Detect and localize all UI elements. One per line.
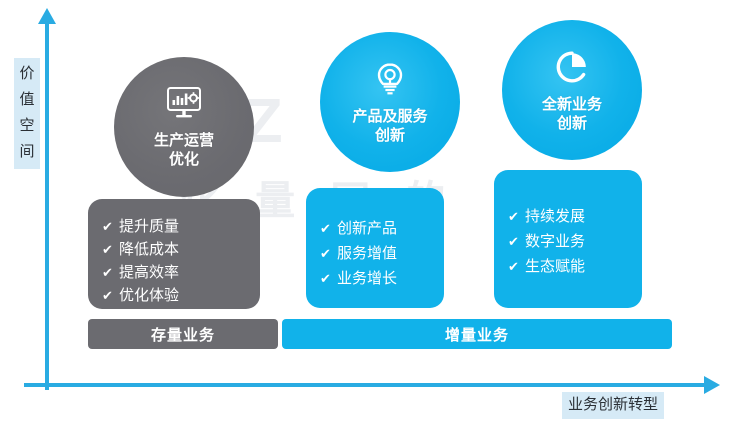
check-icon: ✔ <box>102 261 116 284</box>
list-item: ✔ 提高效率 <box>102 261 246 284</box>
card-product-service-benefits: ✔ 创新产品 ✔ 服务增值 ✔ 业务增长 <box>306 188 444 308</box>
list-item: ✔ 生态赋能 <box>508 254 628 279</box>
transformation-axis-arrow-icon <box>704 376 720 394</box>
check-icon: ✔ <box>508 204 522 229</box>
bubble-title-new-business-innovation: 全新业务 创新 <box>542 95 602 133</box>
bubble-product-service-innovation[interactable]: 产品及服务 创新 <box>320 32 460 172</box>
list-item: ✔ 数字业务 <box>508 229 628 254</box>
bar-label-incremental-business: 增量业务 <box>445 324 509 345</box>
list-item: ✔ 业务增长 <box>320 266 430 291</box>
card-new-business-benefits: ✔ 持续发展 ✔ 数字业务 ✔ 生态赋能 <box>494 170 642 308</box>
check-icon: ✔ <box>102 238 116 261</box>
bar-stock-business[interactable]: 存量业务 <box>88 319 278 349</box>
bubble-title-production-operations: 生产运营 优化 <box>154 131 214 169</box>
list-item: ✔ 优化体验 <box>102 284 246 307</box>
list-product-service-benefits: ✔ 创新产品 ✔ 服务增值 ✔ 业务增长 <box>320 216 430 291</box>
bar-label-stock-business: 存量业务 <box>151 324 215 345</box>
list-item-label: 生态赋能 <box>525 254 585 279</box>
list-item-label: 数字业务 <box>525 229 585 254</box>
list-item-label: 提高效率 <box>119 261 179 284</box>
check-icon: ✔ <box>102 215 116 238</box>
value-axis-line <box>45 22 49 390</box>
list-item: ✔ 服务增值 <box>320 241 430 266</box>
x-axis-label: 业务创新转型 <box>562 392 664 419</box>
bar-incremental-business[interactable]: 增量业务 <box>282 319 672 349</box>
check-icon: ✔ <box>320 241 334 266</box>
monitor-chart-gear-icon <box>164 86 204 127</box>
y-axis-label: 价 值 空 间 <box>14 58 40 169</box>
list-item: ✔ 降低成本 <box>102 238 246 261</box>
check-icon: ✔ <box>508 229 522 254</box>
bubble-production-operations[interactable]: 生产运营 优化 <box>114 57 254 197</box>
transformation-axis-line <box>24 383 706 387</box>
list-new-business-benefits: ✔ 持续发展 ✔ 数字业务 ✔ 生态赋能 <box>508 204 628 279</box>
list-item-label: 降低成本 <box>119 238 179 261</box>
card-existing-benefits: ✔ 提升质量 ✔ 降低成本 ✔ 提高效率 ✔ 优化体验 <box>88 199 260 309</box>
check-icon: ✔ <box>320 266 334 291</box>
list-item-label: 业务增长 <box>337 266 397 291</box>
list-item: ✔ 创新产品 <box>320 216 430 241</box>
list-item-label: 优化体验 <box>119 284 179 307</box>
list-item-label: 创新产品 <box>337 216 397 241</box>
check-icon: ✔ <box>102 284 116 307</box>
y-axis-label-char-0: 价 <box>14 61 40 87</box>
check-icon: ✔ <box>320 216 334 241</box>
y-axis-label-char-2: 空 <box>14 113 40 139</box>
value-axis-arrow-icon <box>38 8 56 24</box>
list-existing-benefits: ✔ 提升质量 ✔ 降低成本 ✔ 提高效率 ✔ 优化体验 <box>102 215 246 307</box>
y-axis-label-char-3: 间 <box>14 139 40 165</box>
lightbulb-icon <box>371 60 409 103</box>
list-item: ✔ 提升质量 <box>102 215 246 238</box>
check-icon: ✔ <box>508 254 522 279</box>
list-item-label: 持续发展 <box>525 204 585 229</box>
list-item-label: 提升质量 <box>119 215 179 238</box>
y-axis-label-char-1: 值 <box>14 87 40 113</box>
diagram-canvas: HZ 化 量 网 的 价 值 空 间 业务创新转型 <box>0 0 736 431</box>
list-item-label: 服务增值 <box>337 241 397 266</box>
bubble-new-business-innovation[interactable]: 全新业务 创新 <box>502 20 642 160</box>
list-item: ✔ 持续发展 <box>508 204 628 229</box>
bubble-title-product-service-innovation: 产品及服务 创新 <box>352 107 427 145</box>
pie-chart-icon <box>553 48 591 91</box>
